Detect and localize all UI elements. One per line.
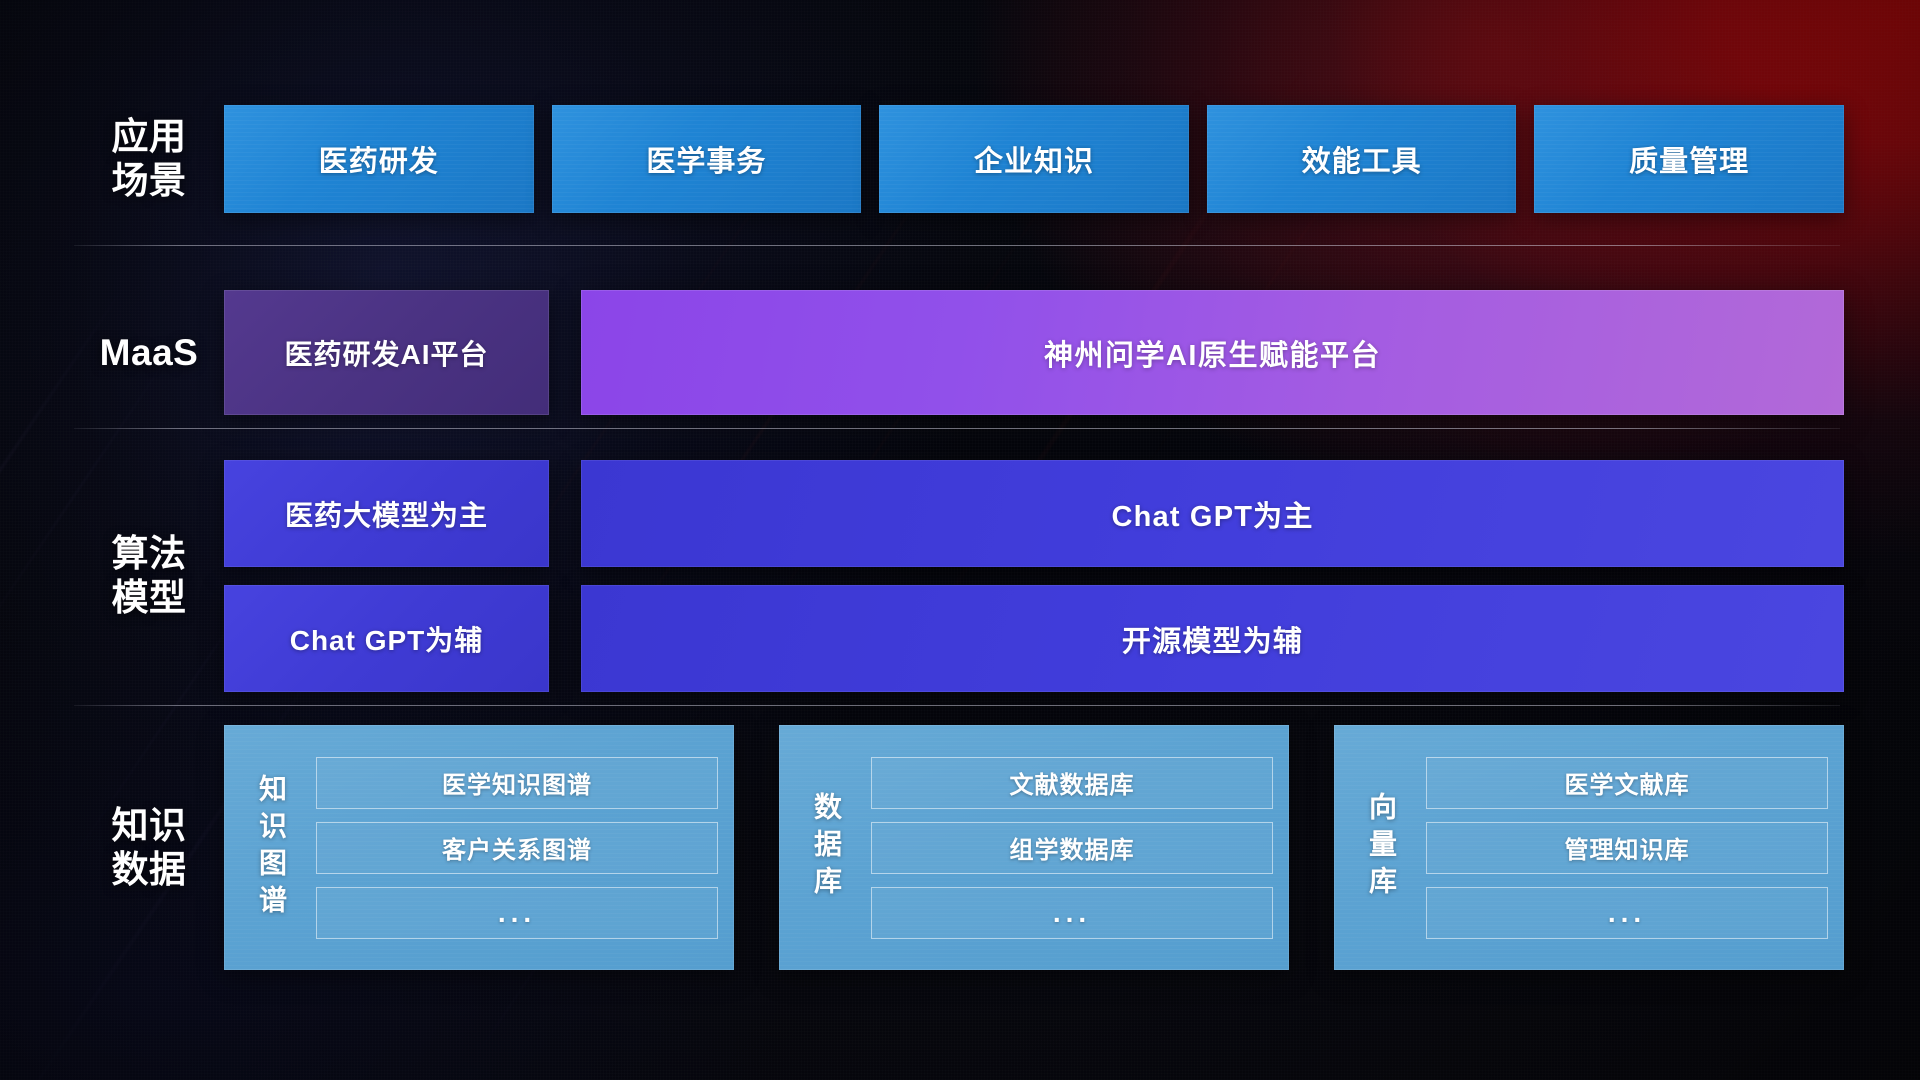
- row-label-application-scenarios: 应用 场景: [74, 115, 224, 202]
- row-label-algorithm-model: 算法 模型: [74, 532, 224, 619]
- knowledge-group-database[interactable]: 数据库 文献数据库 组学数据库 ...: [779, 725, 1289, 970]
- architecture-diagram: 应用 场景 医药研发 医学事务 企业知识 效能工具 质量管理 MaaS 医药研发…: [0, 0, 1920, 1080]
- row-label-maas: MaaS: [74, 331, 224, 375]
- knowledge-item-medical-knowledge-graph[interactable]: 医学知识图谱: [316, 757, 718, 809]
- maas-card-shenzhou-wenxue-platform[interactable]: 神州问学AI原生赋能平台: [581, 290, 1844, 415]
- knowledge-item-more-database[interactable]: ...: [871, 887, 1273, 939]
- app-card-efficiency-tools[interactable]: 效能工具: [1207, 105, 1517, 213]
- divider-algorithm-knowledge: [74, 705, 1840, 706]
- algo-card-chatgpt-secondary[interactable]: Chat GPT为辅: [224, 585, 549, 692]
- maas-card-medicine-rnd-ai-platform[interactable]: 医药研发AI平台: [224, 290, 549, 415]
- knowledge-group-title-vector-store: 向量库: [1350, 739, 1416, 956]
- knowledge-group-list: 知识图谱 医学知识图谱 客户关系图谱 ... 数据库 文献数据库 组学数据库 .…: [224, 725, 1844, 970]
- knowledge-item-management-knowledge-store[interactable]: 管理知识库: [1426, 822, 1828, 874]
- knowledge-group-title-knowledge-graph: 知识图谱: [240, 739, 306, 956]
- knowledge-item-list-knowledge-graph: 医学知识图谱 客户关系图谱 ...: [306, 739, 718, 956]
- algorithm-card-list: 医药大模型为主 Chat GPT为主 Chat GPT为辅 开源模型为辅: [224, 460, 1844, 692]
- algorithm-line-primary: 医药大模型为主 Chat GPT为主: [224, 460, 1844, 567]
- knowledge-group-title-database: 数据库: [795, 739, 861, 956]
- knowledge-item-medical-literature-store[interactable]: 医学文献库: [1426, 757, 1828, 809]
- algo-card-chatgpt-primary[interactable]: Chat GPT为主: [581, 460, 1844, 567]
- knowledge-item-more-vector-store[interactable]: ...: [1426, 887, 1828, 939]
- row-application-scenarios: 应用 场景 医药研发 医学事务 企业知识 效能工具 质量管理: [74, 105, 1844, 213]
- divider-maas-algorithm: [74, 428, 1840, 429]
- app-card-medical-affairs[interactable]: 医学事务: [552, 105, 862, 213]
- divider-applications-maas: [74, 245, 1840, 246]
- knowledge-item-omics-database[interactable]: 组学数据库: [871, 822, 1273, 874]
- knowledge-item-list-vector-store: 医学文献库 管理知识库 ...: [1416, 739, 1828, 956]
- algo-card-opensource-secondary[interactable]: 开源模型为辅: [581, 585, 1844, 692]
- application-card-list: 医药研发 医学事务 企业知识 效能工具 质量管理: [224, 105, 1844, 213]
- app-card-enterprise-knowledge[interactable]: 企业知识: [879, 105, 1189, 213]
- knowledge-item-customer-relation-graph[interactable]: 客户关系图谱: [316, 822, 718, 874]
- knowledge-item-list-database: 文献数据库 组学数据库 ...: [861, 739, 1273, 956]
- app-card-medicine-rnd[interactable]: 医药研发: [224, 105, 534, 213]
- knowledge-group-vector-store[interactable]: 向量库 医学文献库 管理知识库 ...: [1334, 725, 1844, 970]
- row-knowledge-data: 知识 数据 知识图谱 医学知识图谱 客户关系图谱 ... 数据库 文献数据库 组…: [74, 725, 1844, 970]
- algo-card-medicine-large-model-primary[interactable]: 医药大模型为主: [224, 460, 549, 567]
- algorithm-line-secondary: Chat GPT为辅 开源模型为辅: [224, 585, 1844, 692]
- app-card-quality-management[interactable]: 质量管理: [1534, 105, 1844, 213]
- knowledge-group-knowledge-graph[interactable]: 知识图谱 医学知识图谱 客户关系图谱 ...: [224, 725, 734, 970]
- row-maas: MaaS 医药研发AI平台 神州问学AI原生赋能平台: [74, 290, 1844, 415]
- knowledge-item-literature-database[interactable]: 文献数据库: [871, 757, 1273, 809]
- row-algorithm-model: 算法 模型 医药大模型为主 Chat GPT为主 Chat GPT为辅 开源模型…: [74, 460, 1844, 692]
- maas-card-list: 医药研发AI平台 神州问学AI原生赋能平台: [224, 290, 1844, 415]
- knowledge-item-more-knowledge-graph[interactable]: ...: [316, 887, 718, 939]
- row-label-knowledge-data: 知识 数据: [74, 804, 224, 891]
